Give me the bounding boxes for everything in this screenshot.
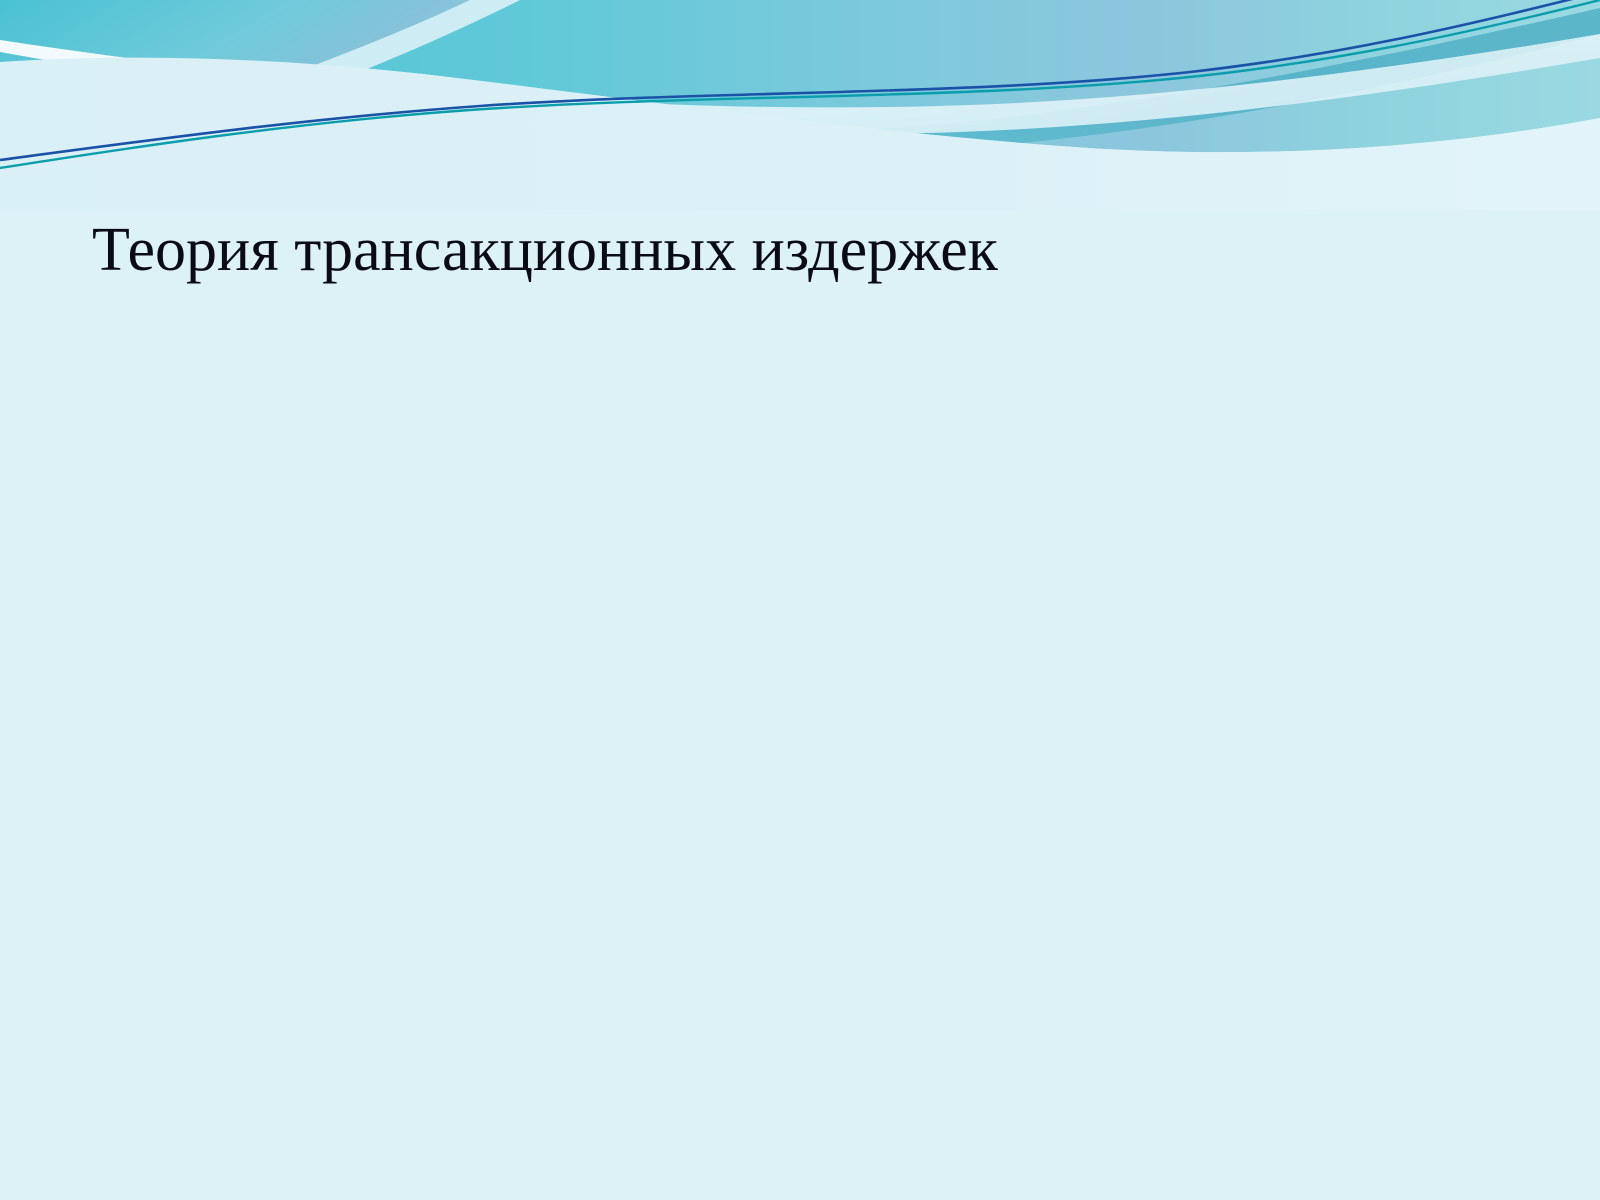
slide-title: Теория трансакционных издержек	[92, 216, 1512, 285]
presentation-slide: Теория трансакционных издержек	[0, 0, 1600, 1200]
slide-background-art	[0, 0, 1600, 210]
slide-body-placeholder[interactable]	[92, 330, 1512, 1090]
